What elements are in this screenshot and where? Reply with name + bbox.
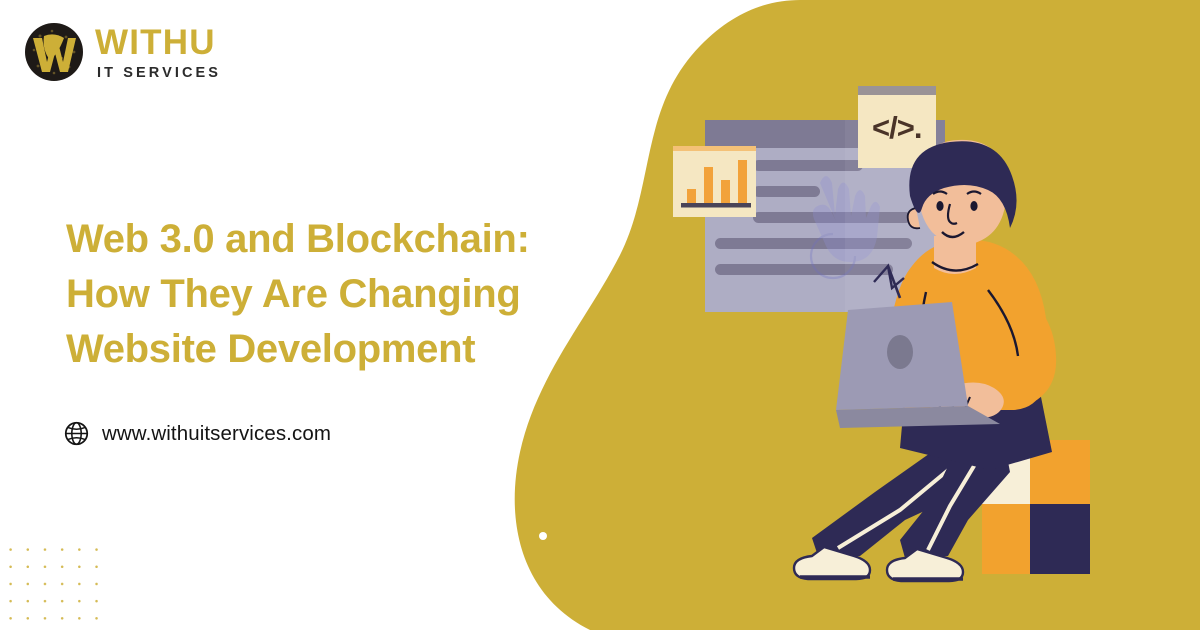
brand-name: WITHU [95, 25, 221, 60]
withu-w-monogram-icon [24, 22, 84, 82]
website-url[interactable]: www.withuitservices.com [64, 421, 331, 446]
page-title: Web 3.0 and Blockchain: How They Are Cha… [66, 212, 606, 378]
brand-logo-text: WITHU IT SERVICES [95, 23, 221, 81]
brand-logo[interactable]: WITHU IT SERVICES [24, 22, 221, 82]
website-url-text: www.withuitservices.com [102, 422, 331, 446]
dot-grid-pattern [0, 538, 108, 630]
brand-tagline: IT SERVICES [95, 66, 221, 81]
page-title-line-1: Web 3.0 and Blockchain: [66, 212, 606, 267]
poster-canvas: </>. [0, 0, 1200, 630]
globe-icon [64, 421, 89, 446]
page-title-line-3: Website Development [66, 322, 606, 377]
white-speck [539, 532, 547, 540]
page-title-line-2: How They Are Changing [66, 267, 606, 322]
blob-shape [515, 0, 1200, 630]
